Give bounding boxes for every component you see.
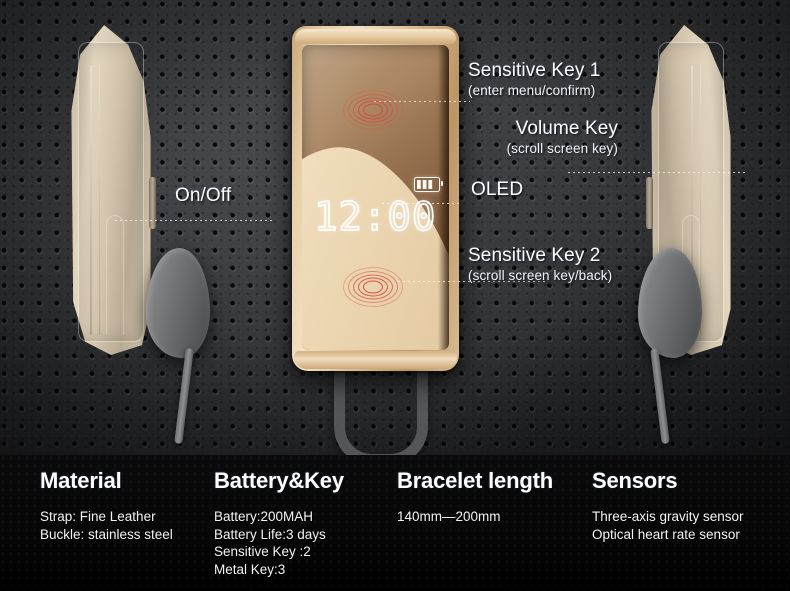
battery-level-bars <box>417 180 434 190</box>
annotation-sensitive-key-1-title: Sensitive Key 1 <box>468 60 600 82</box>
spec-sensors-line-1: Three-axis gravity sensor <box>592 508 744 526</box>
earbud-left-body <box>146 248 210 358</box>
battery-icon <box>414 177 440 192</box>
specifications-panel: Material Strap: Fine Leather Buckle: sta… <box>0 455 790 591</box>
spec-sensors-line-2: Optical heart rate sensor <box>592 526 744 544</box>
spec-column-bracelet-length: Bracelet length 140mm—200mm <box>397 468 553 526</box>
earbud-right <box>638 248 702 358</box>
bracelet-cable-loop <box>334 366 428 465</box>
sensitive-key-2-indicator[interactable] <box>342 267 404 307</box>
annotation-sensitive-key-1-subtitle: (enter menu/confirm) <box>468 83 600 98</box>
annotation-sensitive-key-2-subtitle: (scroll screen key/back) <box>468 268 612 283</box>
spec-bracelet-length-line-1: 140mm—200mm <box>397 508 553 526</box>
annotation-sensitive-key-2-title: Sensitive Key 2 <box>468 245 612 267</box>
spec-column-sensors: Sensors Three-axis gravity sensor Optica… <box>592 468 744 543</box>
spec-sensors-lines: Three-axis gravity sensor Optical heart … <box>592 508 744 543</box>
annotation-sensitive-key-1: Sensitive Key 1 (enter menu/confirm) <box>468 60 600 98</box>
annotation-oled: OLED <box>471 179 523 201</box>
spec-column-battery-key: Battery&Key Battery:200MAH Battery Life:… <box>214 468 344 578</box>
leader-line-oled <box>382 203 462 204</box>
clock-time: 12:00 <box>314 195 436 240</box>
leader-line-sensitive-key-1 <box>374 101 470 102</box>
product-infographic: 12:00 Sensitive Key 1 (enter menu/confir… <box>0 0 790 591</box>
watch-top-bezel <box>295 29 456 44</box>
spec-sensors-title: Sensors <box>592 468 744 494</box>
annotation-on-off: On/Off <box>175 185 231 207</box>
spec-material-title: Material <box>40 468 173 494</box>
watch-side-left-slot <box>106 215 124 335</box>
watch-side-left-groove-2 <box>99 65 101 336</box>
earbud-right-body <box>638 248 702 358</box>
spec-battery-key-lines: Battery:200MAH Battery Life:3 days Sensi… <box>214 508 344 578</box>
spec-bracelet-length-lines: 140mm—200mm <box>397 508 553 526</box>
sensitive-key-1-indicator[interactable] <box>342 90 404 130</box>
spec-battery-key-line-4: Metal Key:3 <box>214 561 344 579</box>
smart-watch-front-view: 12:00 <box>292 26 459 371</box>
spec-material-line-2: Buckle: stainless steel <box>40 526 173 544</box>
watch-side-right-button <box>646 177 653 229</box>
annotation-volume-key: Volume Key (scroll screen key) <box>507 118 618 156</box>
leader-line-volume-key <box>568 172 748 173</box>
spec-column-material: Material Strap: Fine Leather Buckle: sta… <box>40 468 173 543</box>
spec-battery-key-line-3: Sensitive Key :2 <box>214 543 344 561</box>
watch-side-left-groove-1 <box>90 65 92 336</box>
annotation-on-off-title: On/Off <box>175 185 231 207</box>
annotation-volume-key-subtitle: (scroll screen key) <box>507 141 618 156</box>
watch-bottom-bezel <box>294 351 457 369</box>
annotation-volume-key-title: Volume Key <box>507 118 618 140</box>
spec-bracelet-length-title: Bracelet length <box>397 468 553 494</box>
spec-battery-key-line-2: Battery Life:3 days <box>214 526 344 544</box>
spec-material-line-1: Strap: Fine Leather <box>40 508 173 526</box>
earbud-left <box>146 248 210 358</box>
screen-edge-shadow <box>438 45 449 350</box>
annotation-oled-title: OLED <box>471 179 523 201</box>
spec-material-lines: Strap: Fine Leather Buckle: stainless st… <box>40 508 173 543</box>
leader-line-on-off <box>115 220 275 221</box>
spec-battery-key-line-1: Battery:200MAH <box>214 508 344 526</box>
annotation-sensitive-key-2: Sensitive Key 2 (scroll screen key/back) <box>468 245 612 283</box>
watch-side-view-left <box>68 25 154 355</box>
spec-battery-key-title: Battery&Key <box>214 468 344 494</box>
